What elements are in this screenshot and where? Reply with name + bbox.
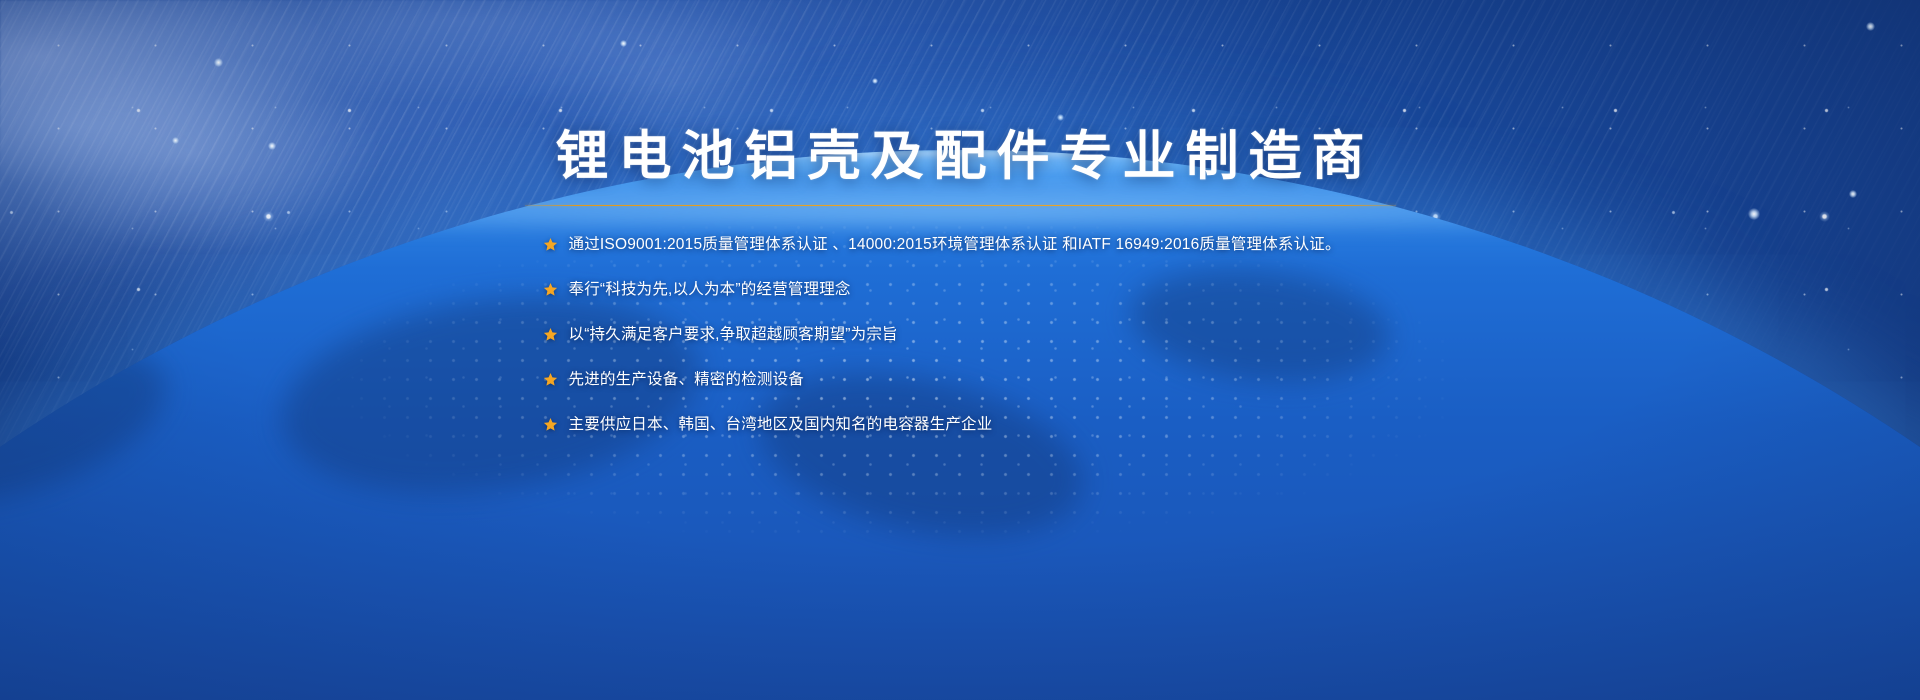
list-item-label: 先进的生产设备、精密的检测设备 <box>569 368 805 391</box>
star-icon <box>543 372 558 387</box>
banner-headline: 锂电池铝壳及配件专业制造商 <box>546 128 1375 186</box>
list-item-label: 通过ISO9001:2015质量管理体系认证 、14000:2015环境管理体系… <box>569 233 1341 256</box>
list-item: 奉行“科技为先,以人为本”的经营管理理念 <box>543 267 1396 312</box>
list-item: 通过ISO9001:2015质量管理体系认证 、14000:2015环境管理体系… <box>543 222 1396 267</box>
banner-content: 锂电池铝壳及配件专业制造商 通过ISO9001:2015质量管理体系认证 、14… <box>0 128 1920 463</box>
list-item-label: 主要供应日本、韩国、台湾地区及国内知名的电容器生产企业 <box>569 413 993 436</box>
list-item: 主要供应日本、韩国、台湾地区及国内知名的电容器生产企业 <box>543 402 1396 447</box>
list-item: 先进的生产设备、精密的检测设备 <box>543 357 1396 402</box>
star-icon <box>543 327 558 342</box>
star-icon <box>543 417 558 432</box>
list-item-label: 以“持久满足客户要求,争取超越顾客期望”为宗旨 <box>569 323 898 346</box>
list-item-label: 奉行“科技为先,以人为本”的经营管理理念 <box>569 278 851 301</box>
hero-banner: 锂电池铝壳及配件专业制造商 通过ISO9001:2015质量管理体系认证 、14… <box>0 0 1920 700</box>
feature-bullet-list: 通过ISO9001:2015质量管理体系认证 、14000:2015环境管理体系… <box>525 222 1396 447</box>
gold-divider-rule <box>525 205 1396 206</box>
star-icon <box>543 237 558 252</box>
list-item: 以“持久满足客户要求,争取超越顾客期望”为宗旨 <box>543 312 1396 357</box>
star-icon <box>543 282 558 297</box>
